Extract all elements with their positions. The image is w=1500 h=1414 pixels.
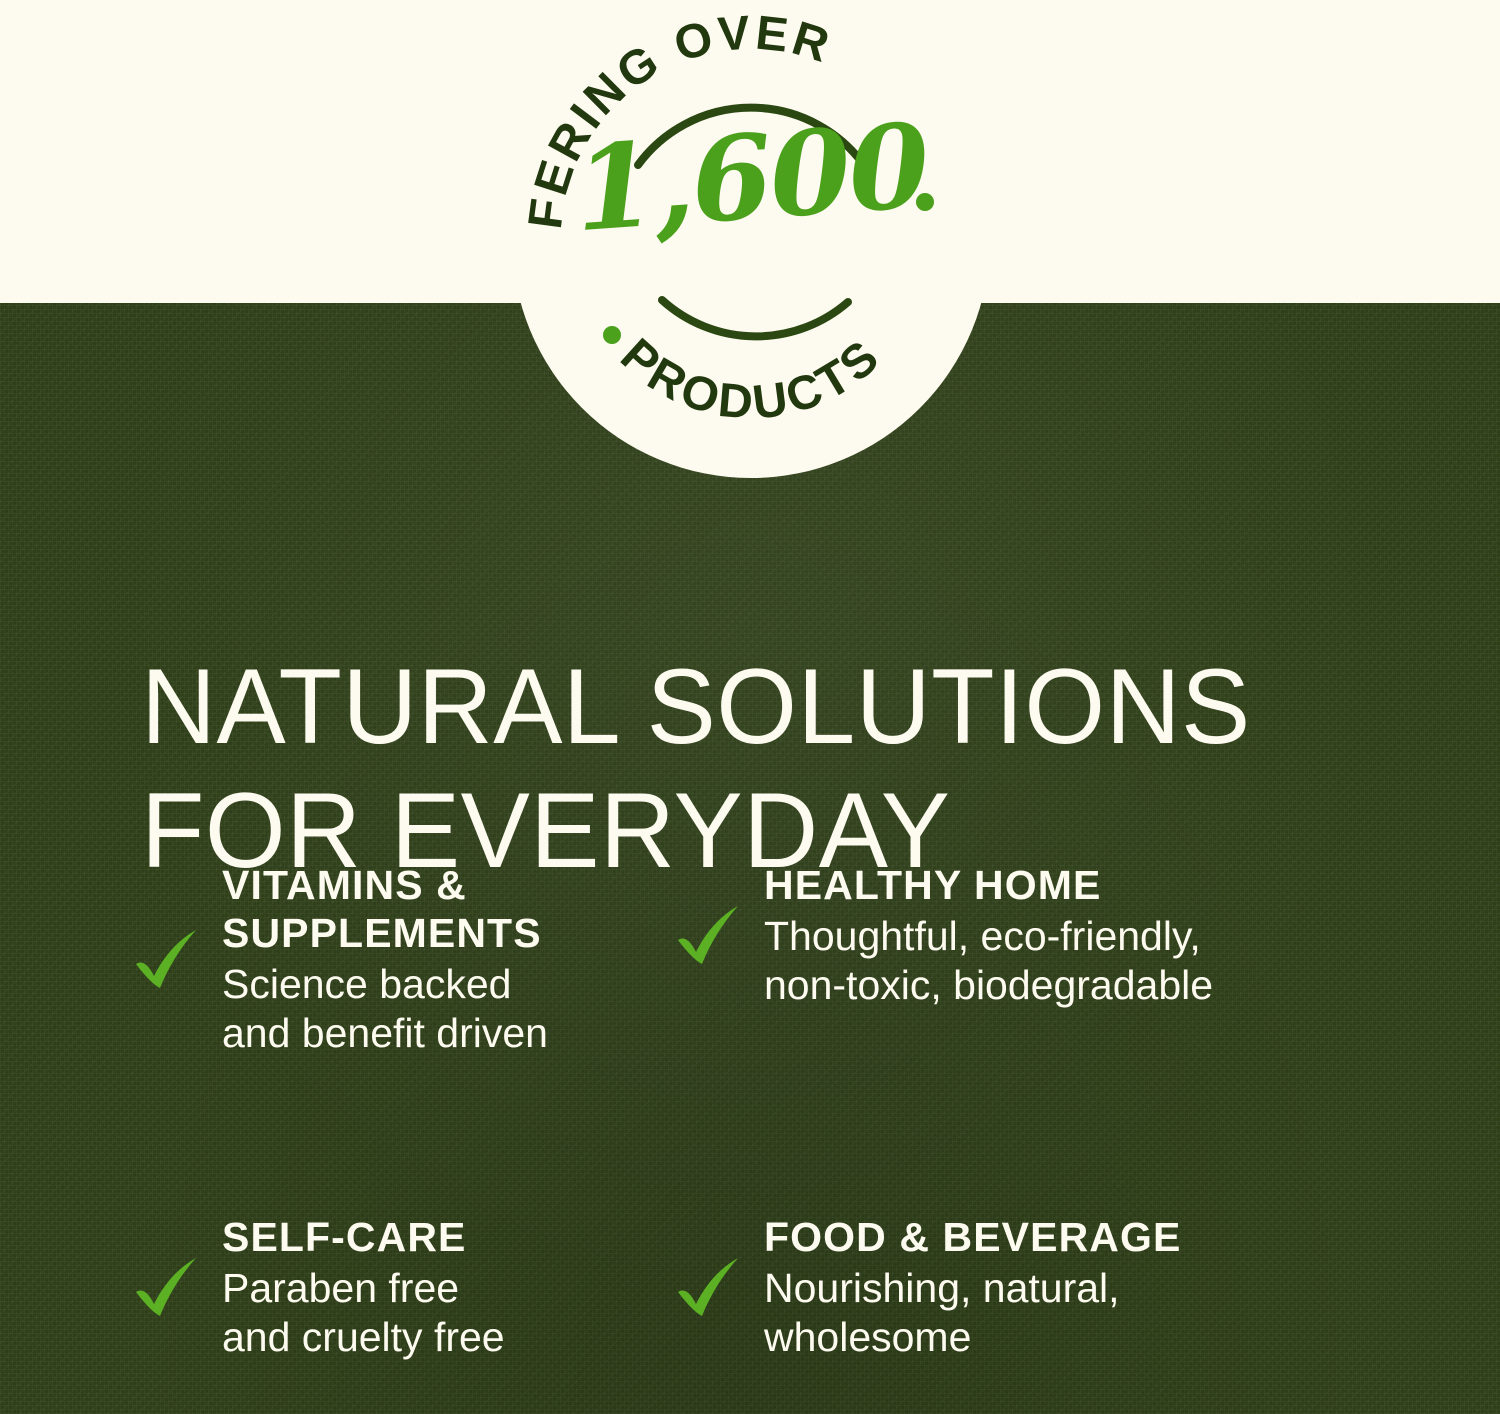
feature-text-block: SELF-CARE Paraben free and cruelty free xyxy=(222,1214,660,1362)
badge-arc-bottom-icon xyxy=(662,300,848,336)
product-count-badge: OFFERING OVER PRODUCTS 1,600 xyxy=(512,0,990,478)
feature-title: VITAMINS & SUPPLEMENTS xyxy=(222,862,660,958)
feature-column-right: FOOD & BEVERAGE Nourishing, natural, who… xyxy=(660,1214,1340,1362)
badge-bottom-textpath: PRODUCTS xyxy=(611,329,892,430)
feature-item-food-beverage: FOOD & BEVERAGE Nourishing, natural, who… xyxy=(670,1214,1340,1362)
feature-row-top: VITAMINS & SUPPLEMENTS Science backed an… xyxy=(0,862,1500,1058)
feature-description: Paraben free and cruelty free xyxy=(222,1264,660,1362)
feature-item-self-care: SELF-CARE Paraben free and cruelty free xyxy=(128,1214,660,1362)
badge-bottom-text: PRODUCTS xyxy=(611,329,892,430)
feature-column-left: VITAMINS & SUPPLEMENTS Science backed an… xyxy=(0,862,660,1058)
feature-description: Thoughtful, eco-friendly, non-toxic, bio… xyxy=(764,912,1340,1010)
feature-text-block: FOOD & BEVERAGE Nourishing, natural, who… xyxy=(764,1214,1340,1362)
promo-infographic: OFFERING OVER PRODUCTS 1,600 NATURAL SOL… xyxy=(0,0,1500,1414)
feature-description: Nourishing, natural, wholesome xyxy=(764,1264,1340,1362)
feature-column-right: HEALTHY HOME Thoughtful, eco-friendly, n… xyxy=(660,862,1340,1058)
feature-row-bottom: SELF-CARE Paraben free and cruelty free … xyxy=(0,1214,1500,1362)
feature-item-vitamins-supplements: VITAMINS & SUPPLEMENTS Science backed an… xyxy=(128,862,660,1058)
check-icon xyxy=(670,1250,746,1326)
page-title: NATURAL SOLUTIONS FOR EVERYDAY xyxy=(141,644,1363,892)
feature-list: VITAMINS & SUPPLEMENTS Science backed an… xyxy=(0,862,1500,1363)
check-icon xyxy=(128,1250,204,1326)
badge-number: 1,600 xyxy=(509,103,994,252)
headline-line-1: NATURAL SOLUTIONS xyxy=(141,646,1251,766)
check-icon xyxy=(670,898,746,974)
feature-row-spacer xyxy=(0,1058,1500,1214)
feature-text-block: HEALTHY HOME Thoughtful, eco-friendly, n… xyxy=(764,862,1340,1010)
feature-title: HEALTHY HOME xyxy=(764,862,1340,910)
badge-dot-left-icon xyxy=(603,326,621,344)
feature-title: FOOD & BEVERAGE xyxy=(764,1214,1340,1262)
feature-description: Science backed and benefit driven xyxy=(222,960,660,1058)
feature-item-healthy-home: HEALTHY HOME Thoughtful, eco-friendly, n… xyxy=(670,862,1340,1010)
feature-text-block: VITAMINS & SUPPLEMENTS Science backed an… xyxy=(222,862,660,1058)
feature-title: SELF-CARE xyxy=(222,1214,660,1262)
check-icon xyxy=(128,922,204,998)
feature-column-left: SELF-CARE Paraben free and cruelty free xyxy=(0,1214,660,1362)
